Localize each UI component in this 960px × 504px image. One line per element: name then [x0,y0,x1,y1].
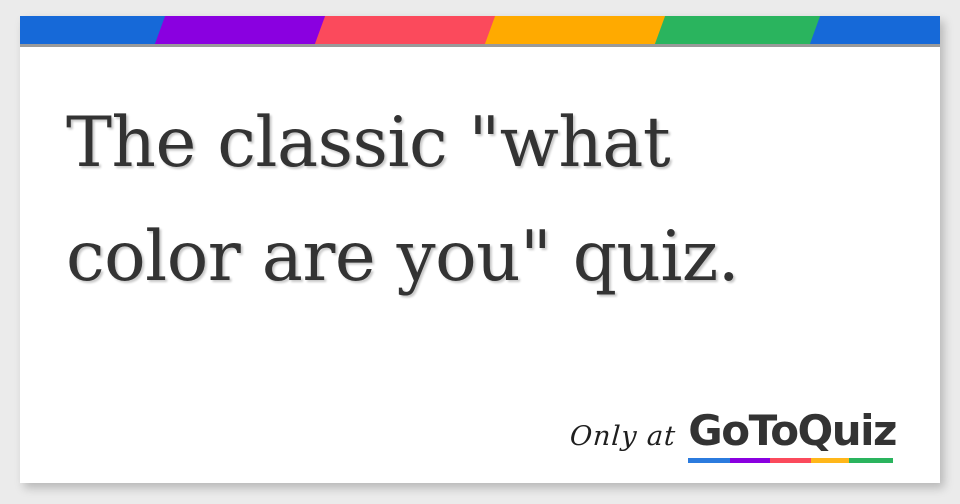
brand-underline-segment-purple [730,458,770,463]
topbar-divider-rule [20,44,940,47]
brand-attribution: Only at GoToQuiz [570,406,896,463]
brand-row: Only at GoToQuiz [570,406,896,455]
brand-only-at-label: Only at [569,421,677,452]
brand-underline-bar [688,458,893,463]
screenshot-root: The classic "what color are you" quiz. O… [0,0,960,504]
rainbow-topbar [20,16,940,44]
brand-underline-segment-red [770,458,811,463]
brand-underline-segment-green [849,458,893,463]
brand-underline-segment-orange [811,458,849,463]
page-title: The classic "what color are you" quiz. [66,86,896,314]
topbar-segment-blue-right [808,16,940,44]
brand-name-label: GoToQuiz [688,406,896,455]
brand-underline-segment-blue [688,458,730,463]
quiz-title-card: The classic "what color are you" quiz. O… [20,16,940,483]
